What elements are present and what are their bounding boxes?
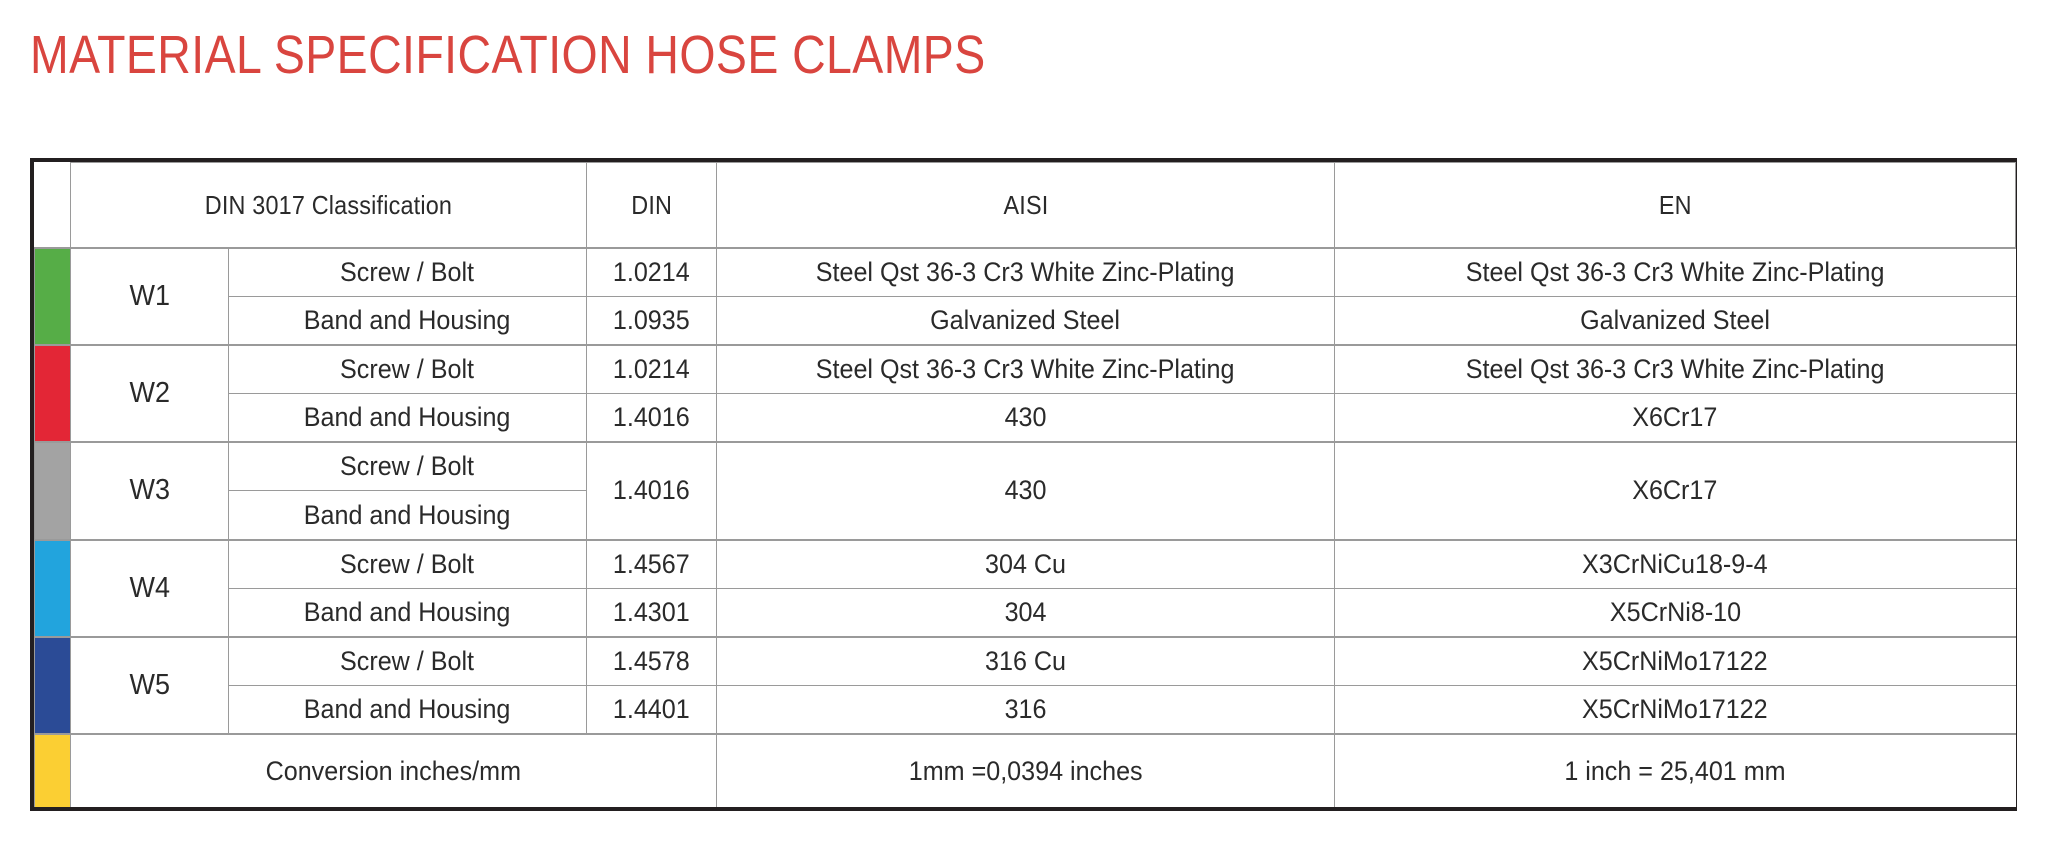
color-chip [35, 735, 70, 807]
group-code-w4: W4 [71, 540, 229, 637]
din-value-w4-screw: 1.4567 [587, 540, 717, 589]
din-value-w3: 1.4016 [587, 442, 717, 539]
header-aisi-label: AISI [1003, 190, 1048, 221]
part-label-w3-band: Band and Housing [229, 491, 587, 540]
aisi-value-w4-band: 304 [717, 588, 1335, 637]
part-label-w5-screw: Screw / Bolt [229, 637, 587, 686]
header-en: EN [1335, 163, 2016, 249]
aisi-value-w1-screw: Steel Qst 36-3 Cr3 White Zinc-Plating [717, 248, 1335, 297]
part-label-w2-screw: Screw / Bolt [229, 345, 587, 394]
color-swatch-conversion [35, 734, 71, 807]
material-specification-table: DIN 3017 Classification DIN AISI EN [34, 162, 2016, 807]
color-swatch-w5 [35, 637, 71, 734]
page-title: MATERIAL SPECIFICATION HOSE CLAMPS [30, 24, 986, 86]
table-row: W3 Screw / Bolt 1.4016 430 X6Cr17 [35, 442, 2016, 491]
part-label-w4-screw: Screw / Bolt [229, 540, 587, 589]
aisi-value-w5-band: 316 [717, 685, 1335, 734]
aisi-value-w1-band: Galvanized Steel [717, 297, 1335, 346]
din-value-w1-band: 1.0935 [587, 297, 717, 346]
part-label-w3-screw: Screw / Bolt [229, 442, 587, 491]
color-swatch-w1 [35, 248, 71, 345]
aisi-value-w3: 430 [717, 442, 1335, 539]
header-din-label: DIN [631, 190, 672, 221]
group-code-label: W4 [129, 572, 169, 605]
conversion-label: Conversion inches/mm [71, 734, 717, 807]
table-row: W2 Screw / Bolt 1.0214 Steel Qst 36-3 Cr… [35, 345, 2016, 394]
color-chip [35, 346, 70, 441]
en-value-w1-screw: Steel Qst 36-3 Cr3 White Zinc-Plating [1335, 248, 2016, 297]
table-row: Band and Housing 1.4401 316 X5CrNiMo1712… [35, 685, 2016, 734]
en-value-w1-band: Galvanized Steel [1335, 297, 2016, 346]
color-chip [35, 638, 70, 733]
table-row: Band and Housing 1.0935 Galvanized Steel… [35, 297, 2016, 346]
header-din: DIN [587, 163, 717, 249]
part-label-w1-screw: Screw / Bolt [229, 248, 587, 297]
group-code-w3: W3 [71, 442, 229, 539]
part-label-w5-band: Band and Housing [229, 685, 587, 734]
din-value-w4-band: 1.4301 [587, 588, 717, 637]
color-chip [35, 249, 70, 344]
group-code-w2: W2 [71, 345, 229, 442]
group-code-w5: W5 [71, 637, 229, 734]
header-swatch-spacer [35, 163, 71, 249]
header-din-3017-classification: DIN 3017 Classification [71, 163, 587, 249]
group-code-label: W3 [129, 474, 169, 507]
group-code-label: W5 [129, 669, 169, 702]
en-value-w4-band: X5CrNi8-10 [1335, 588, 2016, 637]
table-row: W5 Screw / Bolt 1.4578 316 Cu X5CrNiMo17… [35, 637, 2016, 686]
table-row: W4 Screw / Bolt 1.4567 304 Cu X3CrNiCu18… [35, 540, 2016, 589]
header-din-3017-classification-label: DIN 3017 Classification [205, 190, 452, 221]
color-swatch-w3 [35, 442, 71, 539]
table-body: W1 Screw / Bolt 1.0214 Steel Qst 36-3 Cr… [35, 248, 2016, 807]
en-value-w4-screw: X3CrNiCu18-9-4 [1335, 540, 2016, 589]
din-value-w5-band: 1.4401 [587, 685, 717, 734]
en-value-w2-screw: Steel Qst 36-3 Cr3 White Zinc-Plating [1335, 345, 2016, 394]
header-en-label: EN [1659, 190, 1692, 221]
din-value-w2-band: 1.4016 [587, 394, 717, 443]
conversion-row: Conversion inches/mm 1mm =0,0394 inches … [35, 734, 2016, 807]
color-swatch-w2 [35, 345, 71, 442]
din-value-w2-screw: 1.0214 [587, 345, 717, 394]
table-row: Band and Housing 1.4016 430 X6Cr17 [35, 394, 2016, 443]
part-label-w2-band: Band and Housing [229, 394, 587, 443]
en-value-w5-screw: X5CrNiMo17122 [1335, 637, 2016, 686]
table-row: Band and Housing 1.4301 304 X5CrNi8-10 [35, 588, 2016, 637]
aisi-value-w2-screw: Steel Qst 36-3 Cr3 White Zinc-Plating [717, 345, 1335, 394]
table-header: DIN 3017 Classification DIN AISI EN [35, 163, 2016, 249]
conversion-inch-to-mm: 1 inch = 25,401 mm [1335, 734, 2016, 807]
aisi-value-w4-screw: 304 Cu [717, 540, 1335, 589]
material-specification-table-wrapper: DIN 3017 Classification DIN AISI EN [30, 158, 2017, 811]
color-chip [35, 541, 70, 636]
en-value-w5-band: X5CrNiMo17122 [1335, 685, 2016, 734]
header-row: DIN 3017 Classification DIN AISI EN [35, 163, 2016, 249]
part-label-w1-band: Band and Housing [229, 297, 587, 346]
en-value-w3: X6Cr17 [1335, 442, 2016, 539]
group-code-label: W1 [129, 280, 169, 313]
group-code-label: W2 [129, 377, 169, 410]
group-code-w1: W1 [71, 248, 229, 345]
en-value-w2-band: X6Cr17 [1335, 394, 2016, 443]
aisi-value-w2-band: 430 [717, 394, 1335, 443]
part-label-w4-band: Band and Housing [229, 588, 587, 637]
din-value-w1-screw: 1.0214 [587, 248, 717, 297]
din-value-w5-screw: 1.4578 [587, 637, 717, 686]
color-swatch-w4 [35, 540, 71, 637]
header-aisi: AISI [717, 163, 1335, 249]
aisi-value-w5-screw: 316 Cu [717, 637, 1335, 686]
color-chip [35, 443, 70, 538]
conversion-mm-to-inch: 1mm =0,0394 inches [717, 734, 1335, 807]
table-row: W1 Screw / Bolt 1.0214 Steel Qst 36-3 Cr… [35, 248, 2016, 297]
page-root: MATERIAL SPECIFICATION HOSE CLAMPS DIN 3… [0, 0, 2047, 868]
